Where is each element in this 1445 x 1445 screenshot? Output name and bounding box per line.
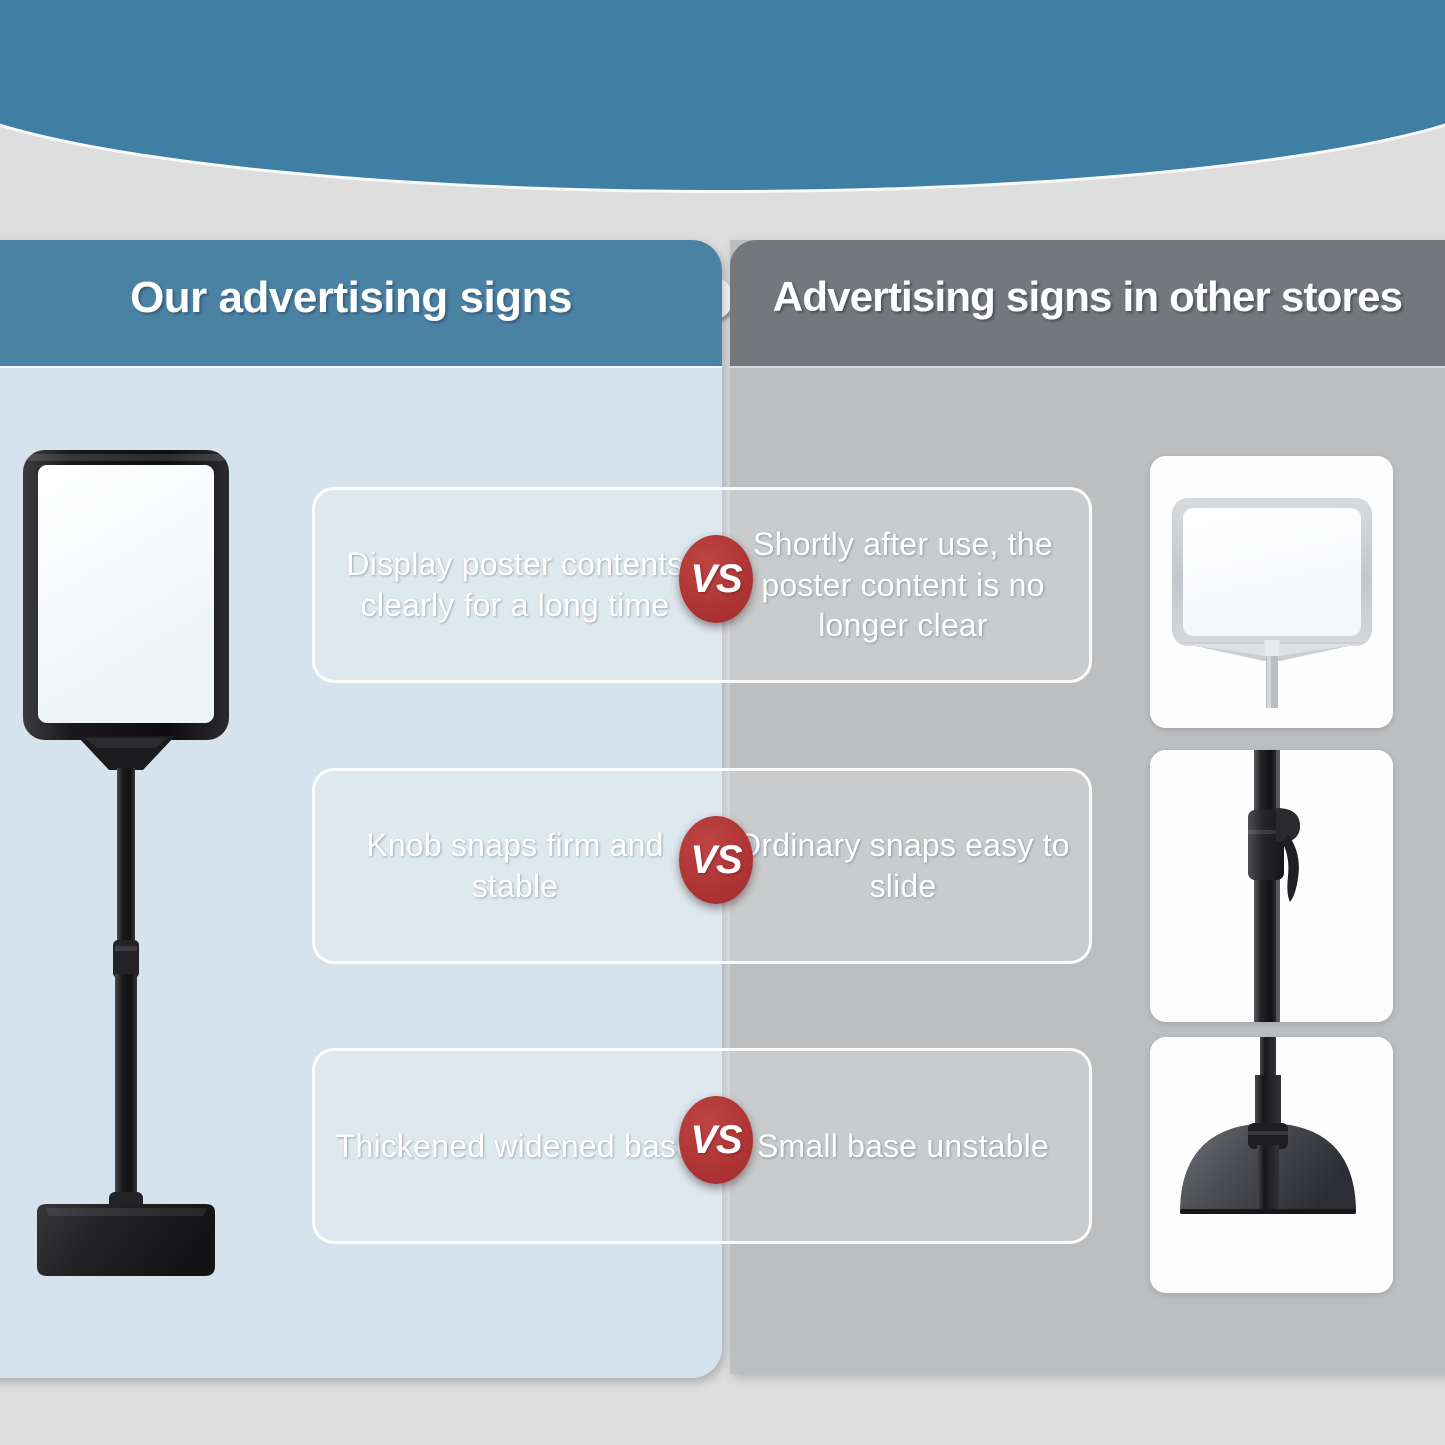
poster-sign-stand-photo — [15, 440, 270, 1300]
comparison-theirs-text: Small base unstable — [715, 1051, 1091, 1241]
vs-badge-icon: VS — [679, 816, 753, 904]
comparison-row[interactable]: Thickened widened base VS Small base uns… — [312, 1048, 1092, 1244]
vs-badge-icon: VS — [679, 1096, 753, 1184]
comparison-theirs-text: Shortly after use, the poster content is… — [715, 490, 1091, 680]
vs-badge-icon: VS — [679, 535, 753, 623]
panel-our-signs-title: Our advertising signs — [0, 273, 702, 323]
comparison-ours-text: Display poster contents clearly for a lo… — [315, 490, 715, 680]
small-base-photo — [1150, 1037, 1393, 1293]
vs-label: VS — [690, 840, 741, 880]
other-store-photos — [1150, 0, 1395, 1445]
white-poster-frame-photo — [1150, 456, 1393, 728]
ordinary-pole-clamp-photo — [1150, 750, 1393, 1022]
vs-label: VS — [690, 1120, 741, 1160]
comparison-ours-text: Knob snaps firm and stable — [315, 771, 715, 961]
comparison-row[interactable]: Knob snaps firm and stable VS Ordinary s… — [312, 768, 1092, 964]
comparison-row[interactable]: Display poster contents clearly for a lo… — [312, 487, 1092, 683]
vs-label: VS — [690, 559, 741, 599]
comparison-theirs-text: Ordinary snaps easy to slide — [715, 771, 1091, 961]
comparison-ours-text: Thickened widened base — [315, 1051, 715, 1241]
